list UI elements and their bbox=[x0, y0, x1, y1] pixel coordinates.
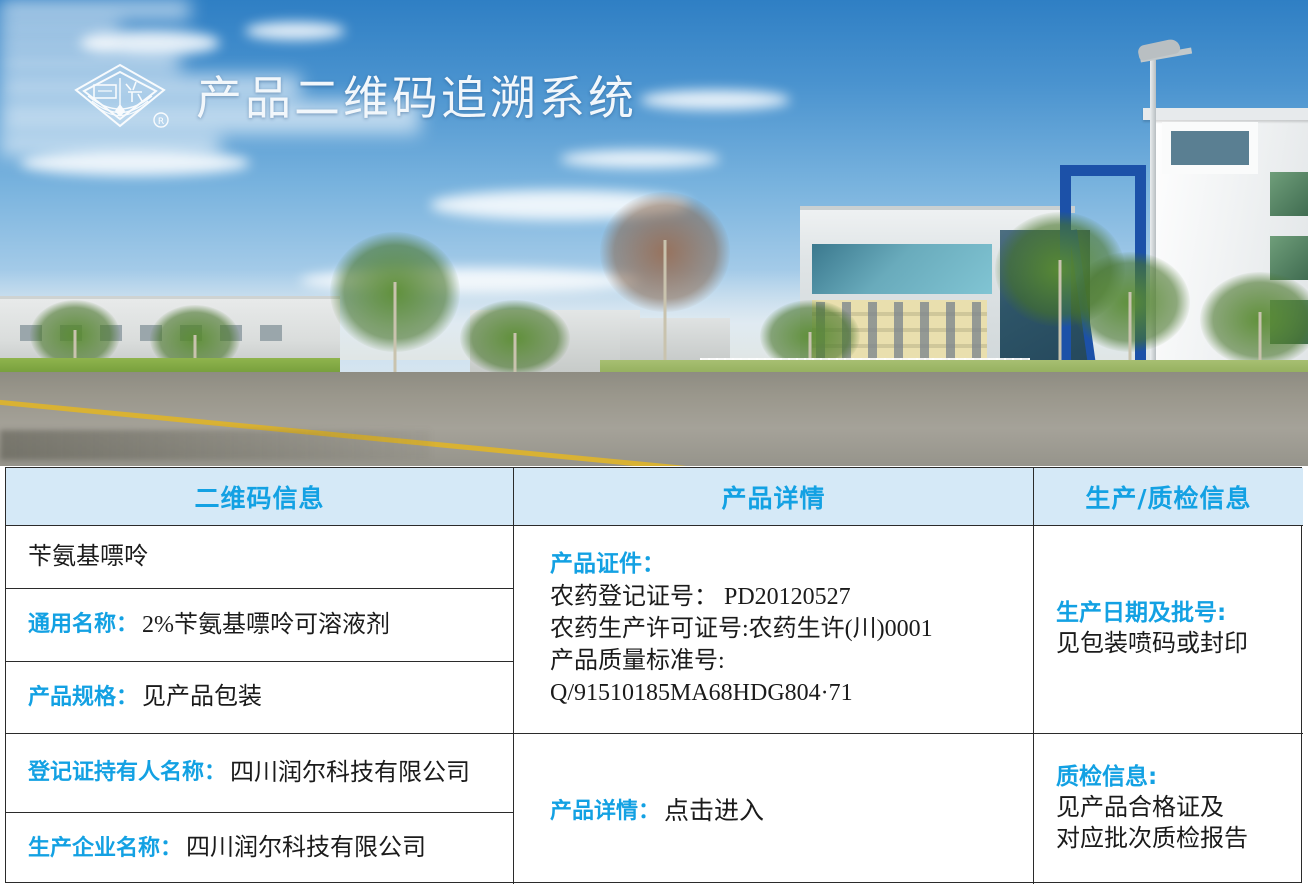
table-header-qrcode: 二维码信息 bbox=[6, 468, 514, 526]
quality-check-title: 质检信息: bbox=[1056, 763, 1303, 793]
product-name-value: 苄氨基嘌呤 bbox=[28, 541, 148, 573]
building-glass-band bbox=[812, 244, 992, 294]
registrant-value: 四川润尔科技有限公司 bbox=[230, 757, 470, 789]
registration-number-line: 农药登记证号： PD20120527 bbox=[550, 582, 1033, 614]
manufacturer-value: 四川润尔科技有限公司 bbox=[186, 832, 426, 864]
cloud-shape bbox=[0, 134, 220, 156]
brand-lockup: R 产品二维码追溯系统 bbox=[66, 60, 637, 136]
table-row: 通用名称： 2%苄氨基嘌呤可溶液剂 bbox=[6, 589, 514, 662]
production-license-line: 农药生产许可证号:农药生许(川)0001 bbox=[550, 614, 1033, 646]
table-header-product: 产品详情 bbox=[514, 468, 1034, 526]
certificates-title: 产品证件： bbox=[550, 544, 1033, 578]
quality-check-block: 质检信息: 见产品合格证及 对应批次质检报告 bbox=[1034, 734, 1303, 884]
table-row: 生产企业名称： 四川润尔科技有限公司 bbox=[6, 813, 514, 884]
quality-standard-label: 产品质量标准号: bbox=[550, 646, 1033, 678]
tower-green-panel bbox=[1270, 172, 1308, 216]
registered-mark-glyph: R bbox=[158, 117, 164, 127]
product-certificates-block: 产品证件： 农药登记证号： PD20120527 农药生产许可证号:农药生许(川… bbox=[514, 526, 1034, 734]
manufacturer-label: 生产企业名称： bbox=[28, 834, 182, 864]
quality-standard-number: Q/91510185MA68HDG804·71 bbox=[550, 678, 1033, 710]
cloud-shape bbox=[0, 36, 110, 52]
traceability-info-table: 二维码信息 产品详情 生产/质检信息 苄氨基嘌呤 通用名称： 2%苄氨基嘌呤可溶… bbox=[5, 467, 1302, 883]
tower-roof-cap bbox=[1143, 108, 1308, 120]
quality-check-line-2: 对应批次质检报告 bbox=[1056, 824, 1303, 855]
product-detail-block[interactable]: 产品详情： 点击进入 bbox=[514, 734, 1034, 884]
hero-banner: R 产品二维码追溯系统 bbox=[0, 0, 1308, 466]
table-row: 登记证持有人名称： 四川润尔科技有限公司 bbox=[6, 734, 514, 813]
tree bbox=[330, 232, 460, 392]
quality-check-line-1: 见产品合格证及 bbox=[1056, 793, 1303, 824]
common-name-label: 通用名称： bbox=[28, 610, 138, 640]
spec-value: 见产品包装 bbox=[142, 681, 262, 713]
product-detail-enter-link[interactable]: 点击进入 bbox=[664, 791, 764, 827]
production-date-value: 见包装喷码或封印 bbox=[1056, 629, 1303, 660]
production-date-block: 生产日期及批号: 见包装喷码或封印 bbox=[1034, 526, 1303, 734]
page-title: 产品二维码追溯系统 bbox=[196, 75, 637, 121]
table-row: 产品规格： 见产品包装 bbox=[6, 662, 514, 734]
cloud-shape bbox=[640, 90, 790, 110]
table-row: 苄氨基嘌呤 bbox=[6, 526, 514, 589]
product-detail-label: 产品详情： bbox=[550, 793, 660, 825]
spec-label: 产品规格： bbox=[28, 683, 138, 713]
road-tree-shadow bbox=[0, 430, 430, 460]
registrant-label: 登记证持有人名称： bbox=[28, 758, 226, 788]
table-header-production: 生产/质检信息 bbox=[1034, 468, 1303, 526]
production-date-title: 生产日期及批号: bbox=[1056, 599, 1303, 629]
guoguang-logo-icon: R bbox=[66, 60, 174, 136]
common-name-value: 2%苄氨基嘌呤可溶液剂 bbox=[142, 609, 390, 641]
tower-opening bbox=[1162, 122, 1258, 174]
cloud-shape bbox=[560, 150, 720, 168]
cloud-shape bbox=[0, 20, 120, 36]
cloud-shape bbox=[245, 22, 345, 40]
cloud-shape bbox=[0, 0, 190, 20]
